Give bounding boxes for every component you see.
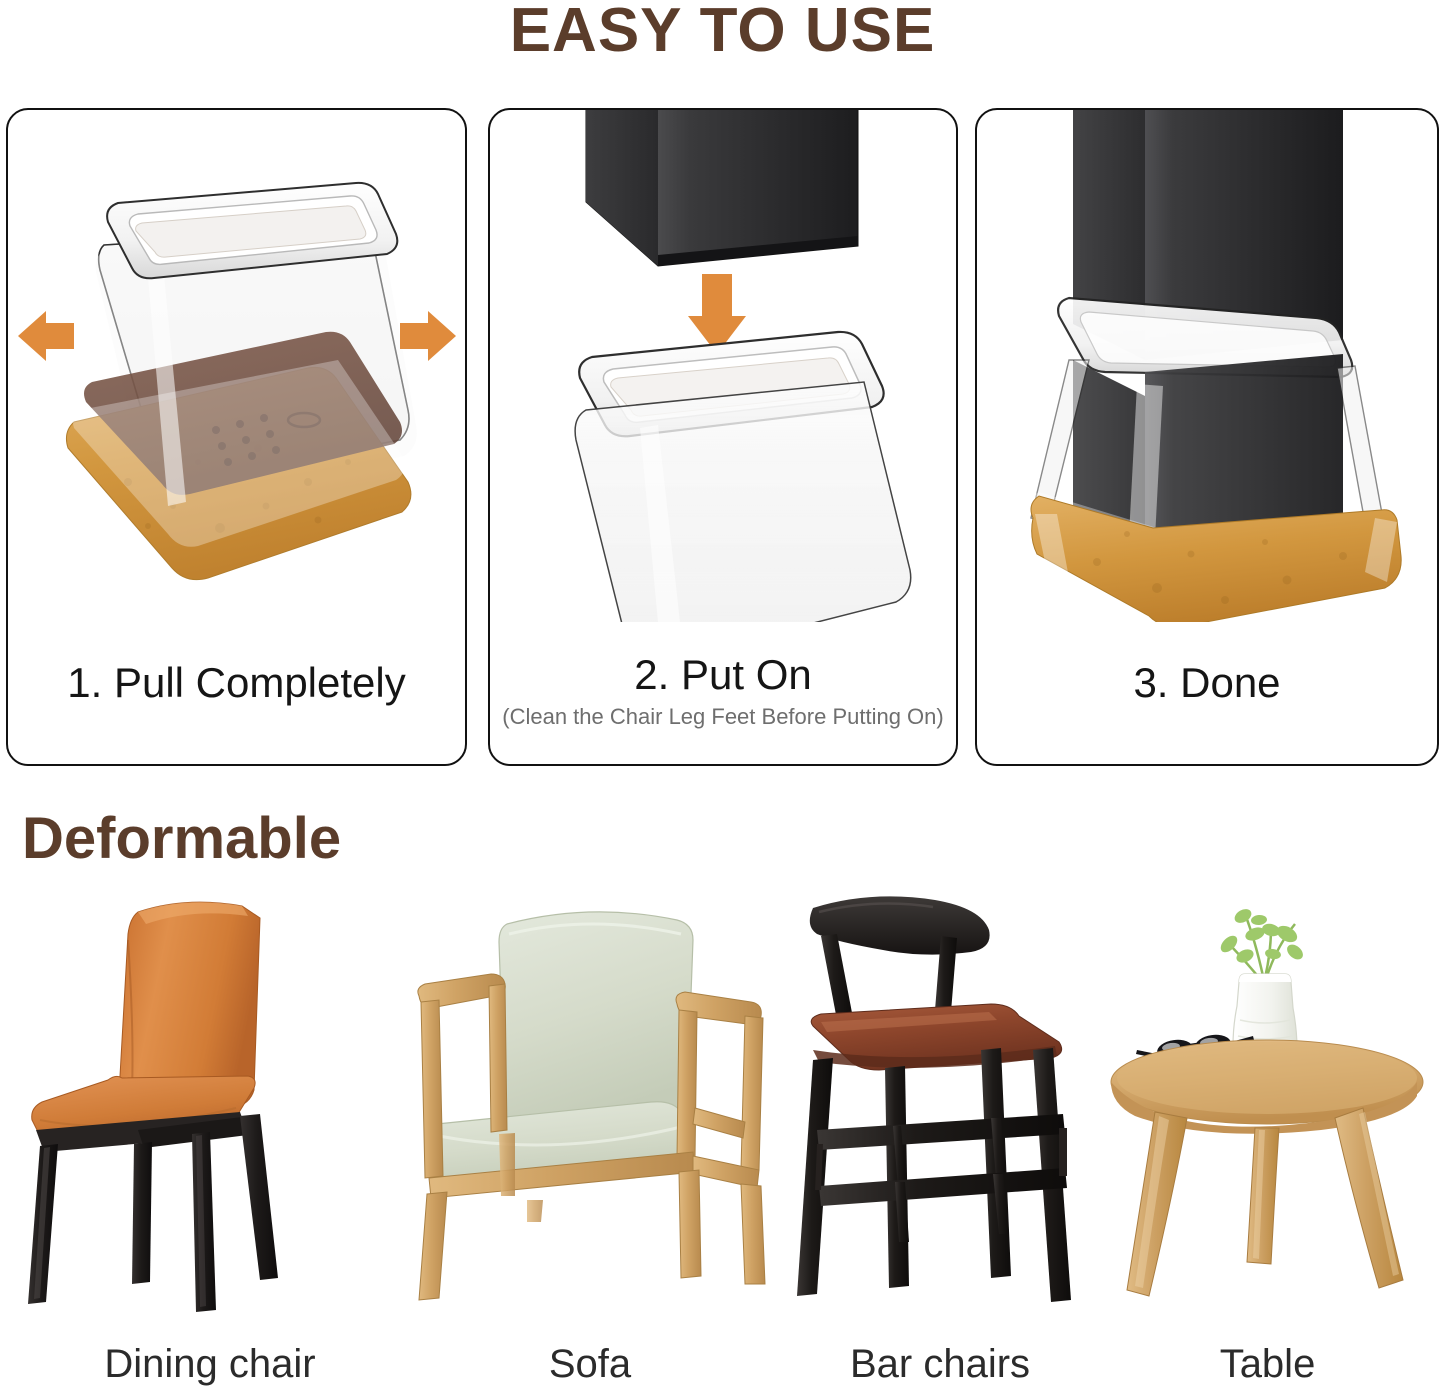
furniture-label-sofa: Sofa xyxy=(395,1340,785,1388)
furniture-label-bar-chairs: Bar chairs xyxy=(775,1340,1105,1388)
arrow-right-icon xyxy=(400,323,430,349)
furniture-item-dining-chair: Dining chair xyxy=(10,890,410,1390)
side-table-illustration xyxy=(1095,890,1440,1315)
chair-leg-above-cap-illustration xyxy=(490,110,956,622)
furniture-label-table: Table xyxy=(1095,1340,1440,1388)
page-title: EASY TO USE xyxy=(0,0,1445,66)
chair-leg-cap-stretch-illustration xyxy=(8,110,465,622)
sofa-armchair-illustration xyxy=(395,890,785,1315)
step-caption-block: 1. Pull Completely xyxy=(8,658,465,726)
dining-chair-illustration xyxy=(10,890,410,1315)
step-panel-done: 3. Done xyxy=(975,108,1439,766)
step-panel-pull: 1. Pull Completely xyxy=(6,108,467,766)
furniture-item-sofa: Sofa xyxy=(395,890,785,1390)
step-caption-block: 3. Done xyxy=(977,658,1437,726)
step-caption-put-on: 2. Put On xyxy=(490,650,956,700)
section-title-deformable: Deformable xyxy=(22,806,341,872)
step-caption-block: 2. Put On (Clean the Chair Leg Feet Befo… xyxy=(490,650,956,752)
step-subcaption-put-on: (Clean the Chair Leg Feet Before Putting… xyxy=(490,700,956,734)
step-panel-put-on: 2. Put On (Clean the Chair Leg Feet Befo… xyxy=(488,108,958,766)
furniture-label-dining-chair: Dining chair xyxy=(10,1340,410,1388)
furniture-item-table: Table xyxy=(1095,890,1440,1390)
step-caption-pull: 1. Pull Completely xyxy=(8,658,465,708)
furniture-item-bar-chairs: Bar chairs xyxy=(775,890,1105,1390)
step-caption-done: 3. Done xyxy=(977,658,1437,708)
steps-row: 1. Pull Completely xyxy=(0,108,1445,768)
chair-leg-cap-installed-illustration xyxy=(977,110,1437,622)
bar-stool-illustration xyxy=(775,890,1105,1315)
furniture-row: Dining chair xyxy=(0,890,1445,1390)
arrow-left-icon xyxy=(44,323,74,349)
